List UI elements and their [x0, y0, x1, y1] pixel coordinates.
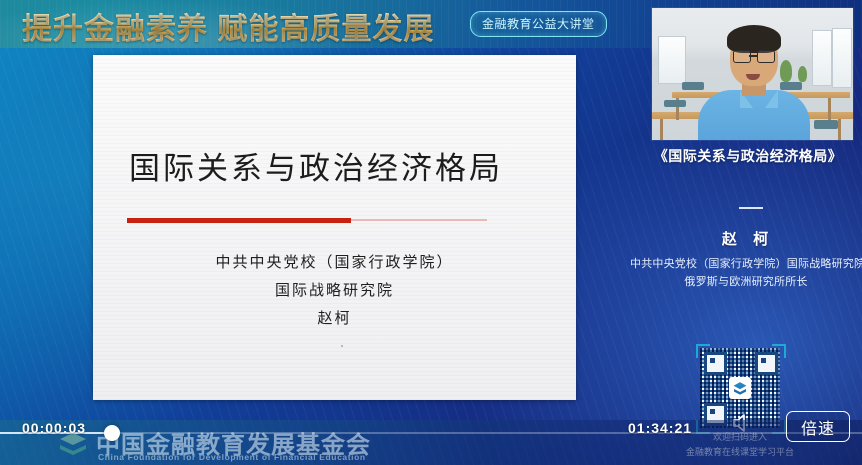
- room-chair: [682, 82, 704, 90]
- room-plant: [780, 60, 792, 82]
- video-player-screen: 提升金融素养 赋能高质量发展 金融教育公益大讲堂 国际关系与政治经济格局 中共中…: [0, 0, 862, 465]
- room-plant: [798, 66, 807, 82]
- header-badge: 金融教育公益大讲堂: [470, 11, 607, 37]
- playback-speed-button[interactable]: 倍速: [786, 411, 850, 442]
- slide-subtitle-line-3: 赵柯: [93, 307, 576, 328]
- desk-leg: [660, 119, 663, 140]
- speaker-name: 赵 柯: [640, 228, 856, 249]
- glasses-bridge: [749, 55, 757, 57]
- room-chair: [814, 120, 838, 129]
- speaker-video-thumbnail[interactable]: [652, 8, 853, 140]
- presentation-slide[interactable]: 国际关系与政治经济格局 中共中央党校（国家行政学院） 国际战略研究院 赵柯: [93, 55, 576, 400]
- progress-bar-track[interactable]: [0, 432, 862, 434]
- desk-leg: [828, 98, 831, 120]
- speaker-affiliation-line-2: 俄罗斯与欧洲研究所所长: [630, 273, 862, 289]
- desk-leg: [838, 119, 841, 140]
- slide-title: 国际关系与政治经济格局: [129, 143, 503, 188]
- sidebar-divider: [739, 207, 763, 209]
- watermark-english-text: China Foundation for Development of Fina…: [98, 452, 366, 462]
- slide-dot-artifact: [341, 345, 343, 347]
- total-time-label: 01:34:21: [628, 420, 692, 436]
- speaker-affiliation-line-1: 中共中央党校（国家行政学院）国际战略研究院: [630, 255, 862, 271]
- glasses-icon: [757, 50, 775, 63]
- room-window: [658, 36, 686, 84]
- slide-subtitle-line-1: 中共中央党校（国家行政学院）: [93, 251, 576, 272]
- slide-subtitle-line-2: 国际战略研究院: [93, 279, 576, 300]
- speaker-shirt: [698, 90, 810, 140]
- slide-rule-red: [127, 218, 351, 223]
- room-window: [812, 30, 832, 86]
- foundation-watermark: 中国金融教育发展基金会 China Foundation for Develop…: [58, 424, 358, 464]
- room-window: [832, 28, 852, 88]
- room-chair: [664, 100, 686, 107]
- current-time-label: 00:00:03: [22, 420, 86, 436]
- speaker-collar-right: [765, 90, 778, 108]
- qr-scan-corner: [696, 344, 710, 358]
- speaker-hair: [727, 25, 781, 53]
- room-chair: [780, 82, 802, 90]
- qr-scan-corner: [772, 344, 786, 358]
- header-title: 提升金融素养 赋能高质量发展: [22, 4, 434, 48]
- course-title: 《国际关系与政治经济格局》: [640, 146, 856, 166]
- progress-bar-handle[interactable]: [104, 425, 120, 441]
